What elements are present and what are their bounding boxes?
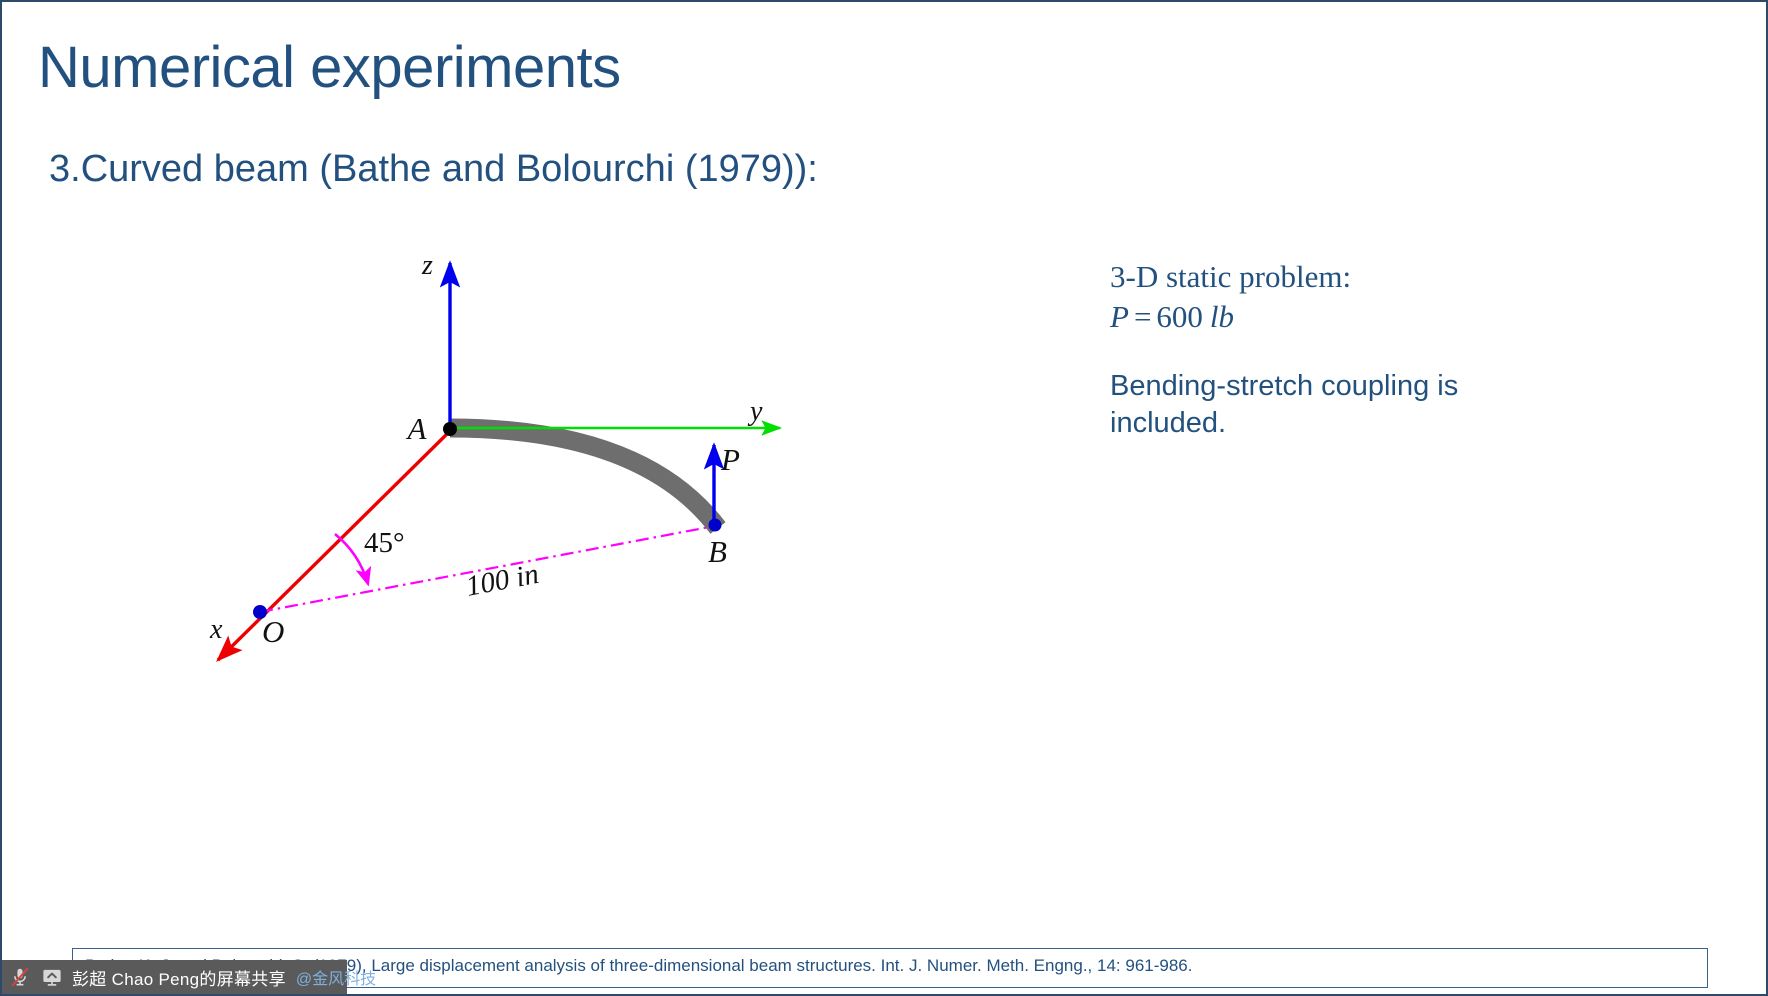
slide-subtitle: 3.Curved beam (Bathe and Bolourchi (1979… [49, 148, 818, 191]
label-A: A [406, 411, 428, 446]
screen-share-icon[interactable] [40, 965, 64, 989]
label-axis-z: z [421, 250, 433, 281]
coupling-note: Bending-stretch coupling is included. [1110, 368, 1510, 442]
label-radius-100in: 100 in [463, 558, 541, 603]
label-axis-x: x [209, 614, 223, 645]
microphone-muted-icon[interactable] [8, 965, 32, 989]
node-B-dot [709, 519, 722, 532]
label-angle-45: 45° [364, 527, 405, 559]
curved-beam-figure: A B O z y x P 45° 100 in [172, 232, 892, 692]
label-load-P: P [720, 442, 740, 477]
curved-beam-body [450, 428, 718, 528]
node-A-dot [443, 422, 457, 436]
screenshare-label: 彭超 Chao Peng的屏幕共享 [72, 965, 286, 990]
equation-variable: P [1110, 299, 1129, 334]
page-title: Numerical experiments [38, 34, 621, 101]
equation-operator: = [1129, 299, 1156, 334]
load-equation: P=600lb [1110, 298, 1670, 336]
screenshare-taskbar[interactable]: 彭超 Chao Peng的屏幕共享 @金风科技 [2, 960, 347, 994]
equation-unit: lb [1203, 299, 1234, 334]
static-problem-line: 3-D static problem: [1110, 258, 1670, 296]
screenshare-sublabel: @金风科技 [296, 965, 376, 989]
axis-x [218, 432, 449, 660]
label-axis-y: y [747, 396, 763, 427]
label-O: O [262, 614, 284, 649]
right-text-block: 3-D static problem: P=600lb [1110, 258, 1670, 336]
label-B: B [708, 534, 727, 569]
equation-value: 600 [1156, 299, 1203, 334]
slide-canvas: Numerical experiments 3.Curved beam (Bat… [0, 0, 1768, 996]
